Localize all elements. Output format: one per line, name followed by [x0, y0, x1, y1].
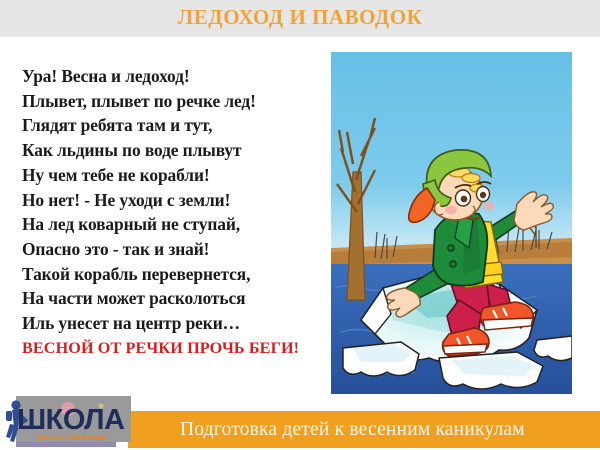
school-logo[interactable]: ШКОЛА юного пешехода	[0, 396, 131, 450]
poem-line: На лед коварный не ступай,	[22, 212, 322, 237]
poem-line: Но нет! - Не уходи с земли!	[22, 188, 322, 213]
poem-line: Опасно это - так и знай!	[22, 237, 322, 262]
poem-block: Ура! Весна и ледоход! Плывет, плывет по …	[22, 64, 322, 360]
poem-line: Ну чем тебе не корабли!	[22, 163, 322, 188]
poem-line: Плывет, плывет по речке лед!	[22, 89, 322, 114]
poem-line: Ура! Весна и ледоход!	[22, 64, 322, 89]
poem-line: Такой корабль перевернется,	[22, 262, 322, 287]
illustration-artwork	[331, 52, 572, 394]
poem-line: Иль унесет на центр реки…	[22, 311, 322, 336]
boy-on-ice-floe-illustration	[331, 52, 572, 394]
footer-caption: Подготовка детей к весенним каникулам	[180, 411, 590, 448]
poem-line: На части может расколоться	[22, 286, 322, 311]
logo-subtitle: юного пешехода	[38, 432, 133, 441]
poem-line: Как льдины по воде плывут	[22, 138, 322, 163]
poem-line: Глядят ребята там и тут,	[22, 113, 322, 138]
poem-warning-line: ВЕСНОЙ ОТ РЕЧКИ ПРОЧЬ БЕГИ!	[22, 336, 322, 361]
page-title: ЛЕДОХОД И ПАВОДОК	[0, 0, 600, 37]
